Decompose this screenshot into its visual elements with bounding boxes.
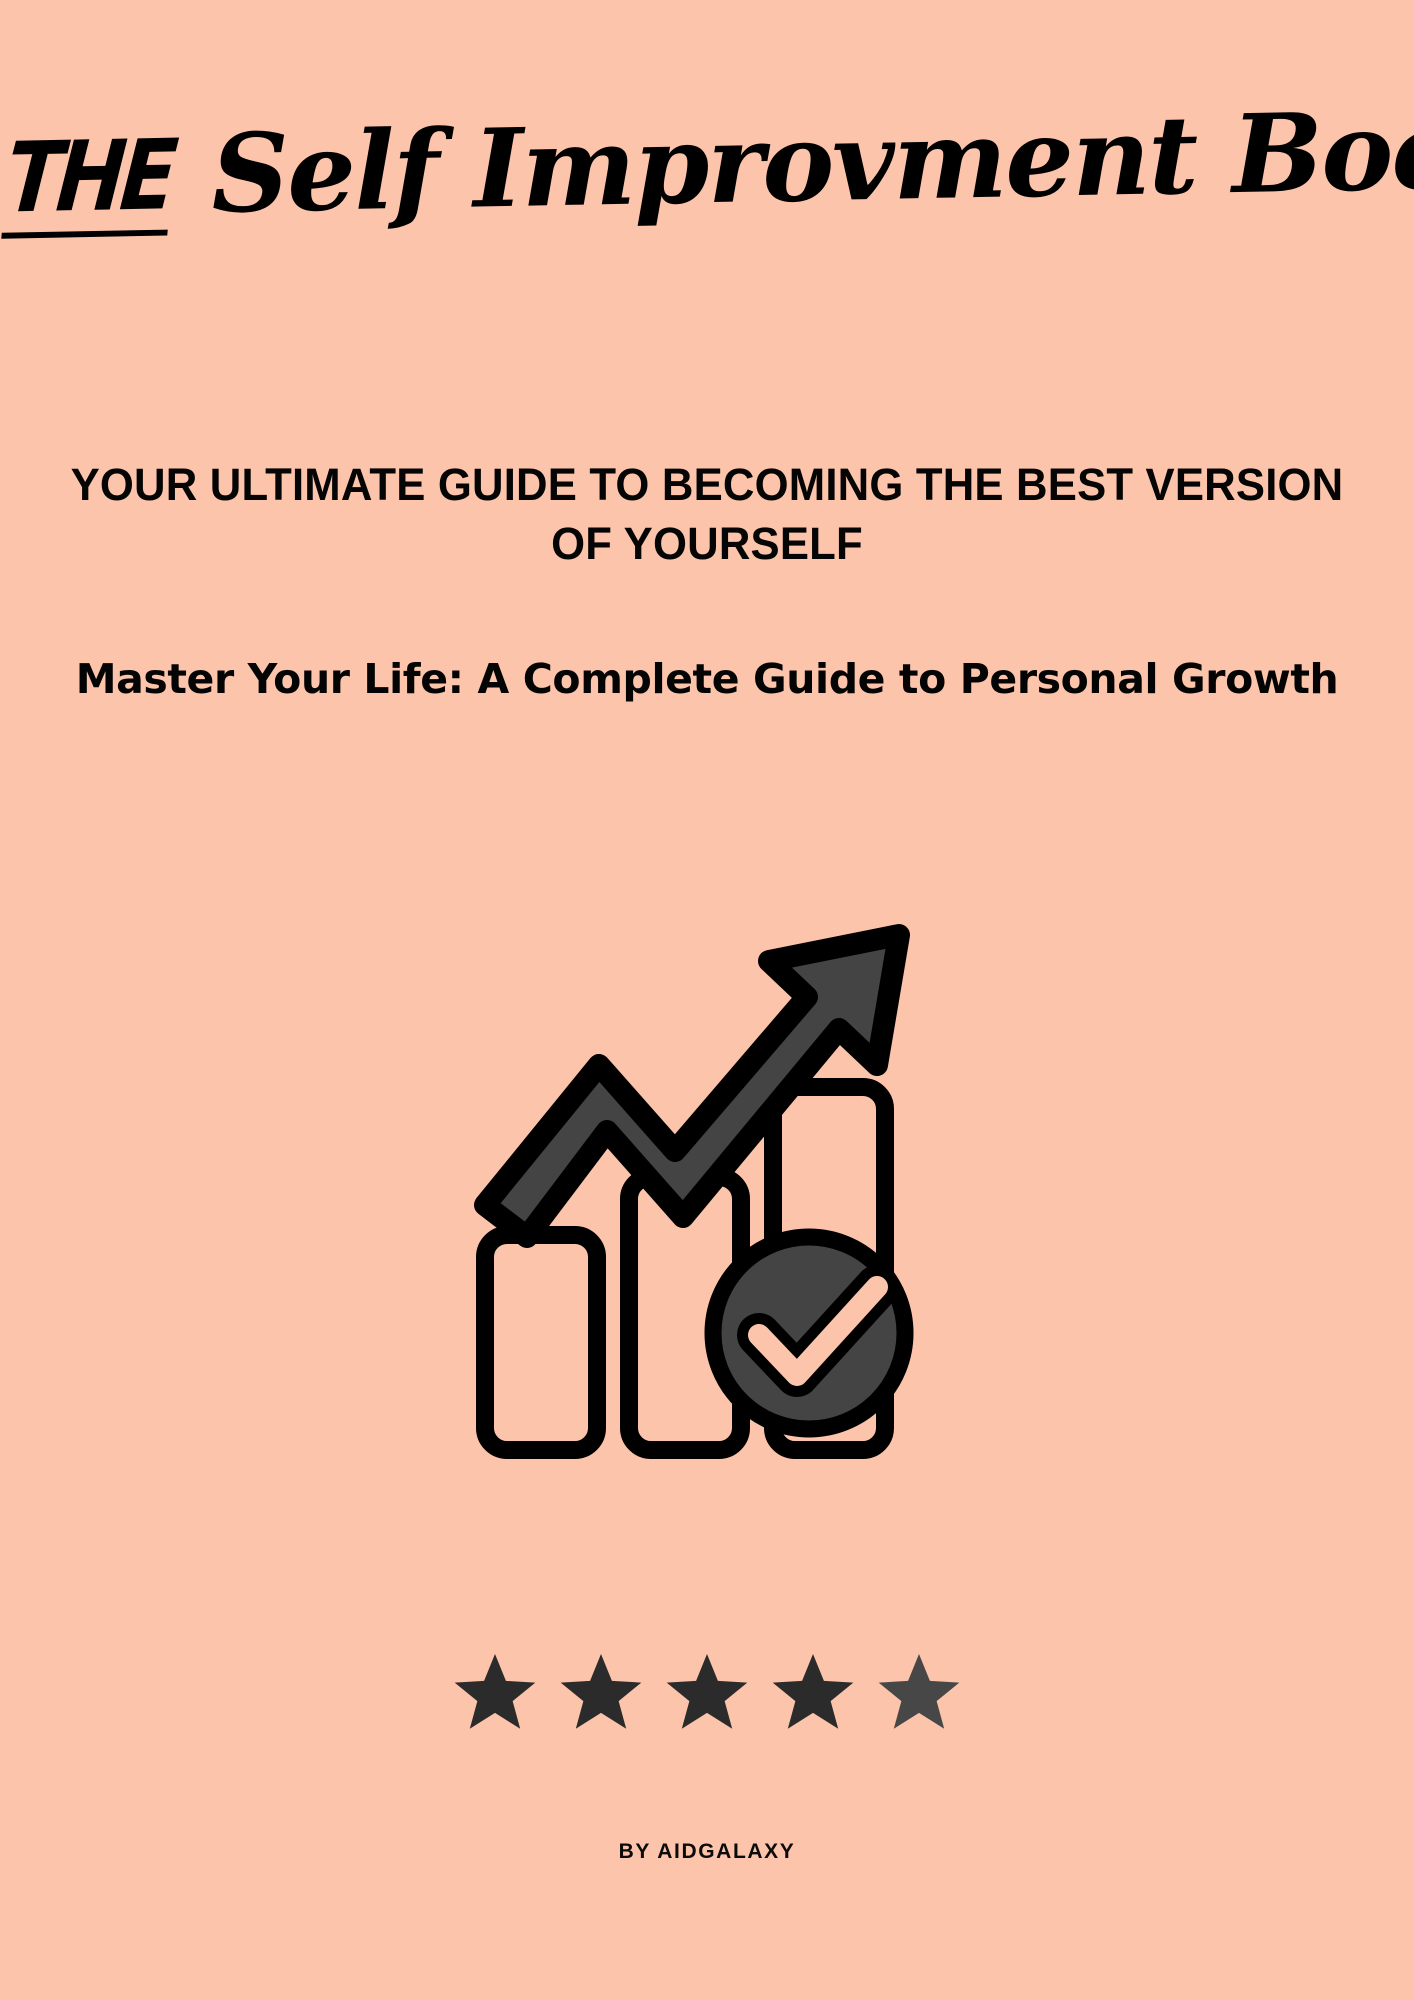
star-1-icon <box>453 1650 537 1732</box>
title-main-script: Self Improvment Book <box>174 86 1414 238</box>
rating-stars <box>0 1650 1414 1732</box>
growth-chart-illustration <box>447 905 967 1525</box>
author-byline: BY AIDGALAXY <box>0 1840 1414 1864</box>
star-2-icon <box>559 1650 643 1732</box>
star-3-icon <box>665 1650 749 1732</box>
book-tagline: Master Your Life: A Complete Guide to Pe… <box>0 655 1414 704</box>
book-subtitle: YOUR ULTIMATE GUIDE TO BECOMING THE BEST… <box>21 455 1393 574</box>
star-5-icon <box>877 1650 961 1732</box>
title-block: THE Self Improvment Book <box>0 108 1414 224</box>
bar-1-icon <box>485 1235 597 1450</box>
book-title: THE Self Improvment Book <box>0 93 1414 239</box>
growth-chart-svg <box>447 905 967 1525</box>
star-4-icon <box>771 1650 855 1732</box>
check-badge-icon <box>713 1237 905 1429</box>
book-cover: THE Self Improvment Book YOUR ULTIMATE G… <box>0 0 1414 2000</box>
title-word-the: THE <box>1 126 176 239</box>
